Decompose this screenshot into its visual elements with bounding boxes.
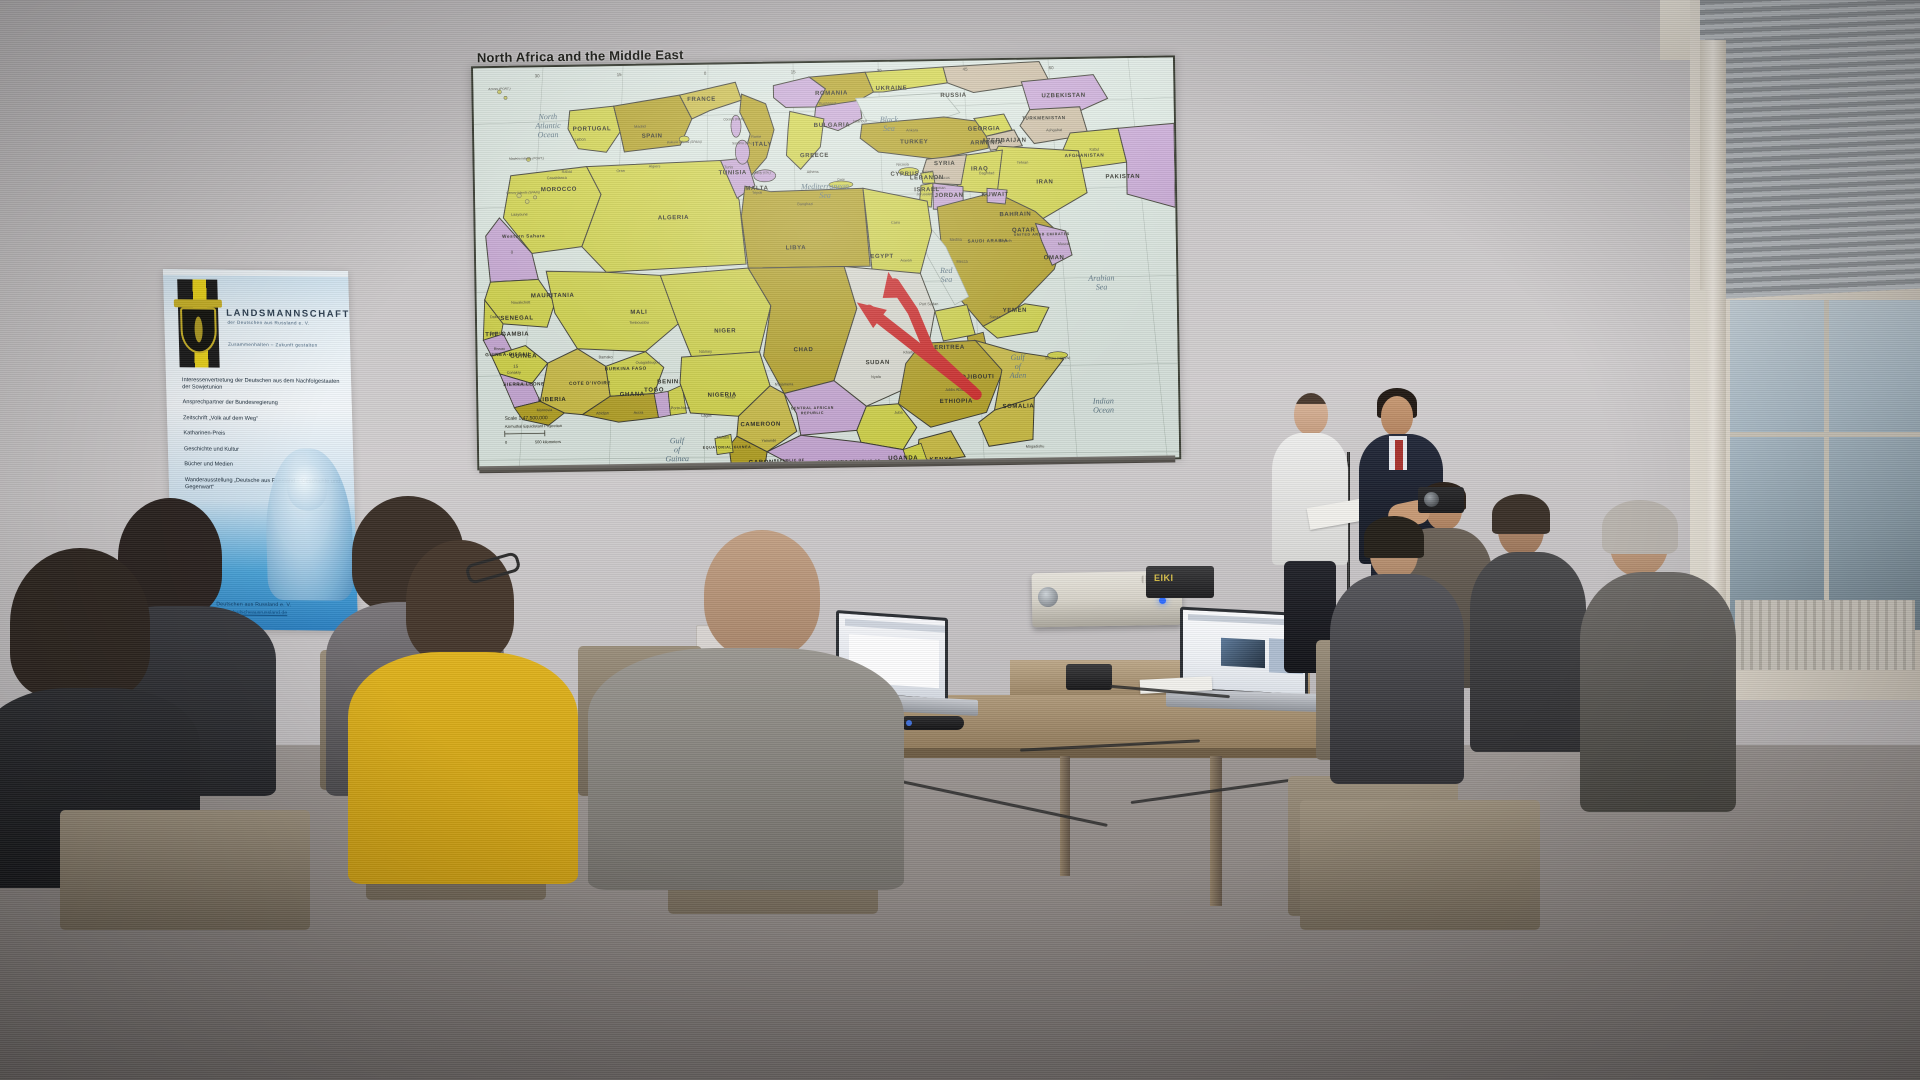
audience-hair <box>10 548 150 698</box>
projected-map: PORTUGALSPAINFRANCEITALYROMANIAUKRAINERU… <box>471 55 1181 470</box>
window-mullion-h <box>1730 432 1920 437</box>
audience-member-5 <box>588 530 908 890</box>
table-leg <box>1210 756 1222 906</box>
equipment-box-label: EIKI <box>1154 573 1174 583</box>
crest-helm <box>174 299 222 307</box>
window-mullion-v <box>1824 300 1829 630</box>
banner-bullet: Interessenvertretung der Deutschen aus d… <box>182 377 342 393</box>
projector-lens-icon <box>1038 587 1058 607</box>
banner-top-rail <box>163 269 348 277</box>
audience-hair <box>1602 500 1678 554</box>
projection-area: North Africa and the Middle East <box>453 35 1178 472</box>
audience-torso <box>1330 574 1464 784</box>
banner-tagline: Zusammenhalten – Zukunft gestalten <box>228 342 318 348</box>
banner-bullet: Ansprechpartner der Bundesregierung <box>183 400 343 409</box>
audience-torso <box>588 648 904 890</box>
audience-torso <box>1470 552 1586 752</box>
audience-member-6 <box>1330 524 1470 784</box>
video-camera <box>1418 487 1464 513</box>
chair <box>1300 800 1540 930</box>
map-graphic: PORTUGALSPAINFRANCEITALYROMANIAUKRAINERU… <box>473 57 1179 468</box>
presenter-right-necktie <box>1395 440 1403 470</box>
audience-hair <box>1364 516 1424 558</box>
banner-org-name: LANDSMANNSCHAFT <box>226 308 350 320</box>
projector-power-led <box>1159 597 1166 604</box>
camera-body-table <box>1066 664 1112 690</box>
banner-bullet: Zeitschrift „Volk auf dem Weg“ <box>183 415 343 424</box>
radiator <box>1735 600 1915 670</box>
audience-member-edge-right <box>1580 510 1740 890</box>
audience-member-4 <box>338 540 588 884</box>
audience-hair <box>1492 494 1550 534</box>
window-blinds <box>1700 0 1920 300</box>
chair <box>60 810 310 930</box>
banner-bullet: Katharinen-Preis <box>183 431 343 440</box>
audience-torso <box>1580 572 1736 812</box>
audience-head <box>704 530 820 658</box>
banner-org-subtitle: der Deutschen aus Russland e. V. <box>227 320 309 326</box>
audience-member-far-right <box>1470 500 1590 840</box>
presentation-room-scene: North Africa and the Middle East <box>0 0 1920 1080</box>
presenter-right-head <box>1381 396 1413 436</box>
presenter-left-head <box>1294 393 1328 435</box>
crest-shield-icon <box>180 307 217 353</box>
laptop-right-thumbnail <box>1221 638 1265 668</box>
equipment-box: EIKI <box>1146 566 1214 598</box>
audience-torso <box>348 652 578 884</box>
